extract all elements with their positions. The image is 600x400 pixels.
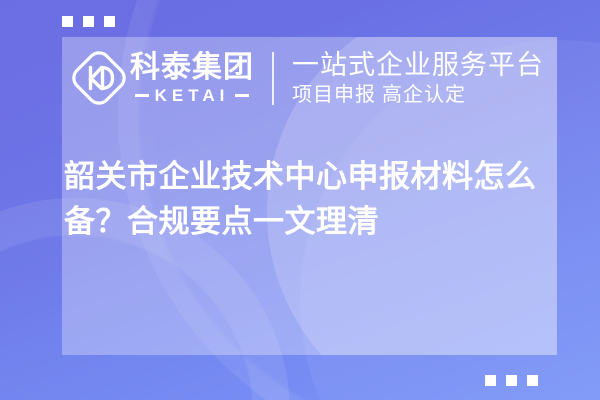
headline-line-2: 备？合规要点一文理清	[64, 199, 555, 244]
top-left-dots-decoration	[62, 16, 115, 27]
tagline-sub: 项目申报 高企认定	[292, 83, 544, 107]
brand-divider	[272, 52, 274, 105]
content-panel: 科泰集团 KETAI 一站式企业服务平台 项目申报 高企认定 韶关市企业技术中心…	[62, 37, 557, 355]
bottom-right-dots-decoration	[485, 375, 538, 386]
poster-canvas: 科泰集团 KETAI 一站式企业服务平台 项目申报 高企认定 韶关市企业技术中心…	[0, 0, 600, 400]
headline-block: 韶关市企业技术中心申报材料怎么 备？合规要点一文理清	[62, 154, 557, 244]
square-dot-icon	[104, 16, 115, 27]
brand-wordmark: 科泰集团 KETAI	[130, 52, 254, 105]
brand-name-en: KETAI	[155, 87, 230, 105]
brand-name-cn: 科泰集团	[130, 52, 254, 84]
square-dot-icon	[62, 16, 73, 27]
brand-header: 科泰集团 KETAI 一站式企业服务平台 项目申报 高企认定	[62, 37, 557, 119]
tagline-main: 一站式企业服务平台	[292, 50, 544, 80]
square-dot-icon	[506, 375, 517, 386]
brand-rule-right-icon	[235, 94, 249, 97]
ketai-kd-monogram-icon	[70, 49, 128, 107]
square-dot-icon	[485, 375, 496, 386]
brand-rule-left-icon	[135, 94, 149, 97]
brand-name-en-row: KETAI	[130, 87, 254, 105]
tagline-block: 一站式企业服务平台 项目申报 高企认定	[292, 50, 544, 107]
square-dot-icon	[83, 16, 94, 27]
headline-line-1: 韶关市企业技术中心申报材料怎么	[64, 154, 555, 199]
square-dot-icon	[527, 375, 538, 386]
